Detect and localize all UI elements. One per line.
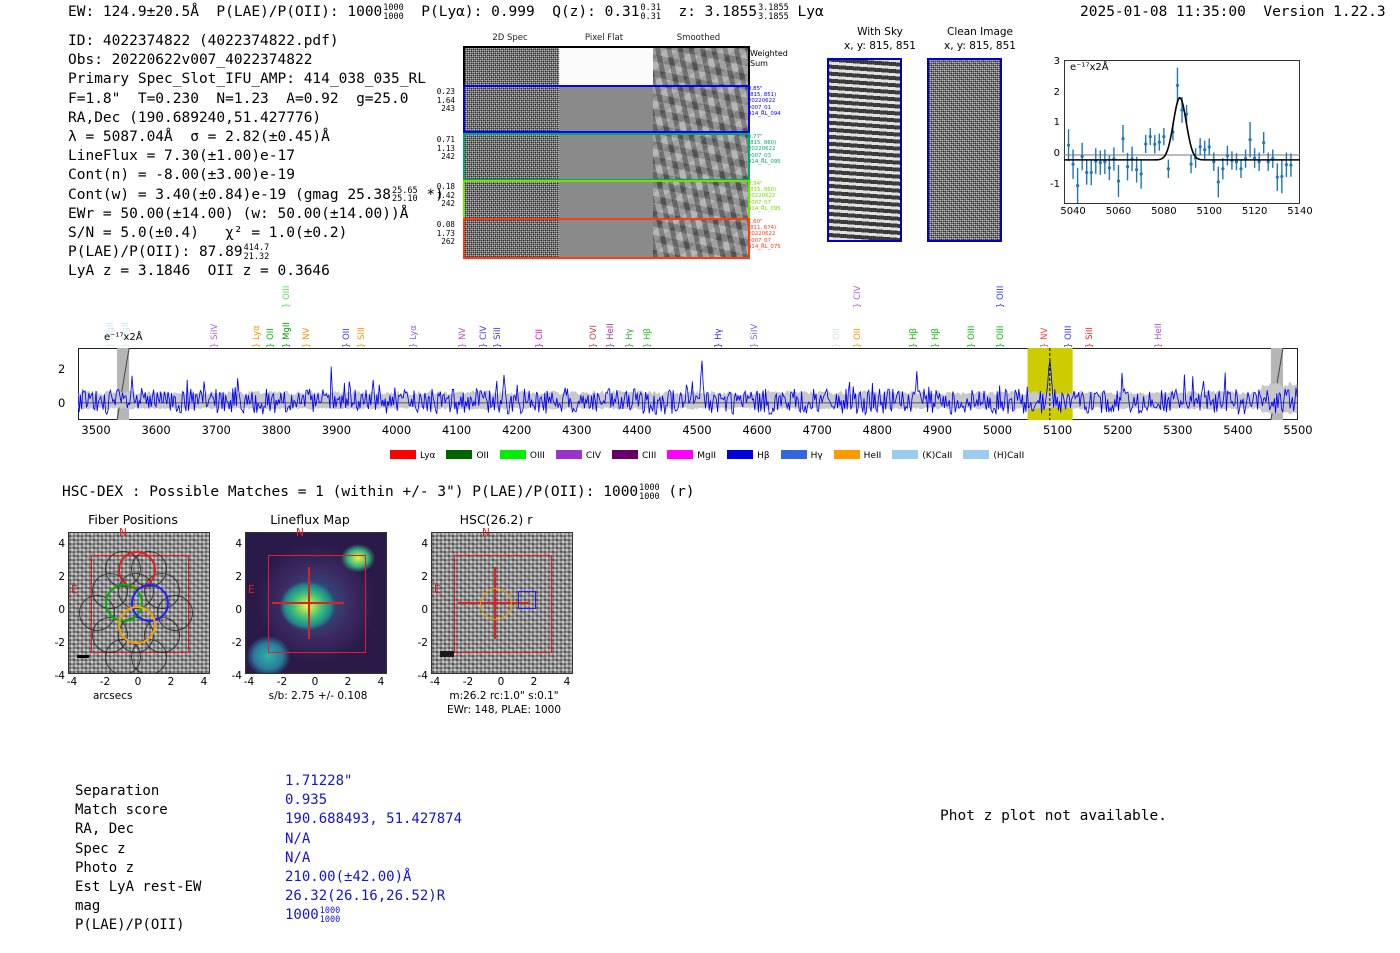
cutout-ytick: 0 [228,604,242,616]
legend-item: (H)CaII [963,450,1024,461]
legend-swatch [500,450,526,459]
fiber-row [463,133,750,181]
spectrum-xtick: 5200 [1103,423,1132,437]
match-value: N/A [285,830,310,849]
info-cont-n: Cont(n) = -8.00(±3.00)e-19 [68,166,444,185]
legend-swatch [390,450,416,459]
col-header-2dspec: 2D Spec [463,33,557,43]
hsc-aperture-circle [480,588,512,620]
spectrum-xtick: 3700 [202,423,231,437]
info-lineflux: LineFlux = 7.30(±1.00)e-17 [68,147,444,166]
legend-label: OII [476,451,488,461]
hsc-match-box [518,591,536,609]
cutout-ytick: 0 [414,604,428,616]
spectrum-line-label: } CII [535,329,545,348]
header-plae-fraction: 10001000 [383,4,403,21]
legend-label: OIII [530,451,545,461]
fiber-stats: 0.181.42242 [425,183,455,209]
match-value: 100010001000 [285,906,340,925]
legend-item: CIII [612,450,656,461]
spectrum-line-label: } OII [832,328,842,348]
fiber-stats: 0.711.13242 [425,136,455,162]
cutout-xtick: -2 [463,676,473,688]
spectrum-line-label: } SiII [493,327,503,348]
hsc-dex-fraction: 10001000 [639,484,659,501]
spectrum-line-label: } OII [853,328,863,348]
lineflux-map-image [245,532,387,674]
line-profile-xtick: 5060 [1106,206,1131,217]
info-obs: Obs: 20220622v007_4022374822 [68,51,444,70]
cutout-xtick: 4 [201,676,208,688]
legend-item: HeII [834,450,882,461]
spectrum-line-label: } OII [266,328,276,348]
info-plae-fraction: 414.721.32 [244,244,270,261]
spectrum-line-label: } Lyα [409,325,419,348]
line-profile-ytick: 3 [1046,56,1060,67]
legend-label: HeII [864,451,882,461]
lineflux-map-panel: Lineflux Map N E s/b: 2.75 +/- 0.108 -4-… [232,512,432,712]
legend-item: OII [446,450,488,461]
legend-swatch [892,450,918,459]
spectrum-xtick: 3600 [141,423,170,437]
info-seeing: F=1.8" T=0.230 N=1.23 A=0.92 g=25.0 [68,90,444,109]
hsc-r-panel: HSC(26.2) r N E m:26.2 rc:1.0" s:0.1" EW… [418,512,618,712]
fiber-stats: 0.081.73262 [425,221,455,247]
spectrum-ytick: 2 [58,362,65,376]
legend-label: (H)CaII [993,451,1024,461]
header-qz-fraction: 0.310.31 [641,4,661,21]
timestamp: 2025-01-08 11:35:00 [1080,4,1246,20]
info-cont-w: Cont(w) = 3.40(±0.84)e-19 (gmag 25.3825.… [68,186,444,205]
legend-label: MgII [697,451,716,461]
legend-swatch [963,450,989,459]
header-plya: P(Lyα): 0.999 [421,4,535,20]
hsc-sublabel-1: m:26.2 rc:1.0" s:0.1" [424,690,584,702]
spectrum-canvas [78,348,1298,420]
spectrum-line-label: } CIV [853,286,863,308]
cutout-xtick: 2 [345,676,352,688]
spectrum-line-label: } OIII [282,286,292,308]
fiber-row [463,180,750,220]
fiber-meta: 0.94"(815, 860)20220622v007_07414_RL_095 [748,181,792,212]
spectrum-line-label: } SiII [357,327,367,348]
clean-image-title: Clean Image [920,26,1040,38]
cutout-ytick: 4 [51,538,65,550]
spectrum-xtick: 4300 [562,423,591,437]
spectrum-line-label: } CIV [479,326,489,348]
spectrum-xtick: 4500 [682,423,711,437]
spectrum-xtick: 5100 [1043,423,1072,437]
spectrum-line-label: } SiII [1085,327,1095,348]
legend-swatch [781,450,807,459]
clean-image-image [927,58,1002,242]
info-wavelength: λ = 5087.04Å σ = 2.82(±0.45)Å [68,128,444,147]
legend-label: (K)CaII [922,451,952,461]
cutout-ytick: -4 [414,670,428,682]
hsc-r-title: HSC(26.2) r [406,512,586,527]
spectrum-line-label: } SiIV [210,324,220,348]
cutout-xtick: 4 [378,676,385,688]
cutout-xtick: 0 [135,676,142,688]
hsc-dex-text: HSC-DEX : Possible Matches = 1 (within +… [62,484,638,500]
spectrum-line-label: } NV [458,328,468,348]
lineflux-compass-n: N [296,527,304,539]
spectrum-xtick: 4000 [382,423,411,437]
clean-image-coords: x, y: 815, 851 [920,40,1040,52]
cutout-xtick: -4 [244,676,254,688]
cutout-xtick: -2 [277,676,287,688]
fiber-row [463,85,750,133]
spectrum-xtick: 3800 [262,423,291,437]
legend-label: CIV [586,451,601,461]
spectrum-legend: LyαOIIOIIICIVCIIIMgIIHβHγHeII(K)CaII(H)C… [390,450,1035,461]
cutout-ytick: -2 [228,637,242,649]
legend-item: Lyα [390,450,435,461]
spectrum-xtick: 5300 [1163,423,1192,437]
match-label: Separation [75,782,159,801]
spectrum-line-label: } OIII [967,326,977,348]
line-profile-ytick: -1 [1046,179,1060,190]
header-plae-label: P(LAE)/P(OII): 1000 [216,4,382,20]
hsc-sublabel-2: EWr: 148, PLAE: 1000 [424,704,584,716]
spectrum-line-label: } Hγ [625,328,635,348]
spectrum-line-label: } HeII [1154,323,1164,348]
match-label: RA, Dec [75,820,134,839]
cutout-ytick: 2 [51,571,65,583]
hsc-dex-suffix: (r) [668,484,694,500]
full-spectrum-plot: e⁻¹⁷x2Å [78,348,1298,420]
header-qz: Q(z): 0.31 [552,4,639,20]
spectrum-xtick: 4800 [863,423,892,437]
cutout-ytick: 2 [228,571,242,583]
col-header-pixelflat: Pixel Flat [557,33,651,43]
spectrum-line-label: } SiIV [750,324,760,348]
legend-item: OIII [500,450,545,461]
source-info-block: ID: 4022374822 (4022374822.pdf) Obs: 202… [68,32,444,282]
cutout-ytick: -4 [228,670,242,682]
spectrum-xtick: 4600 [742,423,771,437]
header-meta: 2025-01-08 11:35:00 Version 1.22.3 [1080,4,1386,20]
fiber-positions-image [68,532,210,674]
legend-item: Hγ [781,450,823,461]
line-profile-ytick: 0 [1046,148,1060,159]
spectrum-ytick: 0 [58,396,65,410]
match-value: N/A [285,849,310,868]
fiber-meta: 0.85"(815, 851)20220622v007_01414_RL_094 [748,86,792,117]
cutout-xtick: -2 [100,676,110,688]
spectrum-xtick: 4100 [442,423,471,437]
info-gmag-fraction: 25.6525.10 [392,187,418,204]
match-value: 26.32(26.16,26.52)R [285,887,445,906]
legend-item: CIV [556,450,601,461]
spectrum-xtick: 3500 [81,423,110,437]
cutout-xtick: 0 [312,676,319,688]
header-line-id: Lyα [798,4,824,20]
match-label: mag [75,897,100,916]
legend-swatch [612,450,638,459]
spectrum-line-label: } OVI [589,325,599,348]
cutout-xtick: -4 [67,676,77,688]
lineflux-map-title: Lineflux Map [220,512,400,527]
line-profile-xtick: 5040 [1060,206,1085,217]
fiber-row [463,218,750,259]
spectrum-xtick: 4700 [803,423,832,437]
line-profile-xtick: 5080 [1151,206,1176,217]
fiber-stats: 0.231.64243 [425,88,455,114]
legend-label: Hβ [757,451,770,461]
legend-swatch [446,450,472,459]
fiber-meta: 1.60"(811, 674)20220622v007_07414_RL_075 [748,219,792,250]
spectrum-line-label: } Hβ [931,328,941,348]
cutout-ytick: 2 [414,571,428,583]
spectrum-line-labels: } MgII} MgII} SiIV} Lyα} OII} MgII} OIII… [78,270,1298,348]
cutout-ytick: -2 [51,637,65,649]
hsc-dex-header: HSC-DEX : Possible Matches = 1 (within +… [62,484,695,501]
spectrum-xtick: 3900 [322,423,351,437]
hsc-compass-e: E [434,584,441,596]
with-sky-image [827,58,902,242]
fiber-compass-e: E [71,584,78,596]
info-radec: RA,Dec (190.689240,51.427776) [68,109,444,128]
spectrum-xtick: 4900 [923,423,952,437]
match-label: Spec z [75,840,126,859]
match-label: Est LyA rest-EW [75,878,201,897]
line-profile-canvas [1064,60,1300,204]
spectrum-line-label: } NV [302,328,312,348]
spectrum-xtick: 4200 [502,423,531,437]
cutout-ytick: 0 [51,604,65,616]
line-profile-ytick: 2 [1046,87,1060,98]
legend-item: (K)CaII [892,450,952,461]
fiber-positions-panel: Fiber Positions N E arcsecs -4-2024 420-… [55,512,255,712]
photz-unavailable-message: Phot z plot not available. [940,808,1167,824]
cutout-xtick: -4 [430,676,440,688]
lineflux-sublabel: s/b: 2.75 +/- 0.108 [238,690,398,702]
line-profile-xtick: 5120 [1242,206,1267,217]
match-value: 0.935 [285,791,327,810]
cutout-xtick: 2 [531,676,538,688]
legend-label: CIII [642,451,656,461]
cutout-ytick: 4 [228,538,242,550]
info-snr: S/N = 5.0(±0.4) χ² = 1.0(±0.2) [68,224,444,243]
cutout-xtick: 0 [498,676,505,688]
spectrum-line-label: } Hβ [909,328,919,348]
spectrum-line-label: } OIII [996,286,1006,308]
spectrum-line-label: } OIII [1064,326,1074,348]
spectrum-xtick: 5400 [1223,423,1252,437]
header-ew: EW: 124.9±20.5Å [68,4,199,20]
col-header-smoothed: Smoothed [651,33,746,43]
version-label: Version 1.22.3 [1263,4,1385,20]
weighted-sum-label: WeightedSum [750,49,794,69]
spectrum-xtick: 4400 [622,423,651,437]
cutout-xtick: 4 [564,676,571,688]
spectrum-line-label: } OIII [996,326,1006,348]
match-label: Photo z [75,859,134,878]
hsc-compass-n: N [482,527,490,539]
fiber-meta: 0.77"(815, 860)20220622v007_03414_RL_095 [748,134,792,165]
fiber-highlight-orange [118,606,156,644]
spectrum-line-label: } NV [1040,328,1050,348]
line-profile-xtick: 5100 [1196,206,1221,217]
spectrum-xtick: 5500 [1283,423,1312,437]
legend-swatch [667,450,693,459]
legend-item: Hβ [727,450,770,461]
legend-swatch [834,450,860,459]
line-profile-xtick: 5140 [1287,206,1312,217]
cutout-thumbnails: With Sky x, y: 815, 851 Clean Image x, y… [820,26,1030,256]
fiber-xlabel: arcsecs [93,690,132,702]
spectrum-line-label: } OII [342,328,352,348]
match-value: 190.688493, 51.427874 [285,810,462,829]
lineflux-compass-e: E [248,584,255,596]
spectrum-line-label: } Lyα [252,325,262,348]
fiber-positions-title: Fiber Positions [43,512,223,527]
cutout-ytick: -4 [51,670,65,682]
spectrum-units: e⁻¹⁷x2Å [104,332,143,343]
legend-label: Lyα [420,451,435,461]
legend-swatch [556,450,582,459]
info-plae: P(LAE)/P(OII): 87.89414.721.32 [68,243,444,262]
spectrum-line-label: } MgII [282,322,292,348]
spectrum-line-label: } Hβ [643,328,653,348]
cutout-ytick: 4 [414,538,428,550]
match-value: 210.00(±42.00)Å [285,868,411,887]
cutout-ytick: -2 [414,637,428,649]
match-label: P(LAE)/P(OII) [75,916,185,935]
legend-swatch [727,450,753,459]
spectrum-xtick: 5000 [983,423,1012,437]
header-redshift: z: 3.1855 [678,4,757,20]
match-label: Match score [75,801,168,820]
hsc-r-image [431,532,573,674]
header-summary: EW: 124.9±20.5Å P(LAE)/P(OII): 100010001… [68,4,824,21]
info-id: ID: 4022374822 (4022374822.pdf) [68,32,444,51]
fiber-compass-n: N [119,527,127,539]
info-ewr: EWr = 50.00(±14.00) (w: 50.00(±14.00))Å [68,205,444,224]
header-redshift-fraction: 3.18553.1855 [758,4,789,21]
cutout-xtick: 2 [168,676,175,688]
line-profile-plot: e⁻¹⁷x2Å -10123 504050605080510051205140 [1030,56,1302,226]
line-profile-ytick: 1 [1046,117,1060,128]
legend-item: MgII [667,450,716,461]
spectrum-line-label: } HeII [606,323,616,348]
spectrum-line-label: } Hγ [714,328,724,348]
legend-label: Hγ [811,451,823,461]
twod-spectra-panel: 2D Spec Pixel Flat Smoothed WeightedSum … [425,33,755,255]
match-value: 1.71228" [285,772,352,791]
info-primary-spec: Primary Spec_Slot_IFU_AMP: 414_038_035_R… [68,70,444,89]
